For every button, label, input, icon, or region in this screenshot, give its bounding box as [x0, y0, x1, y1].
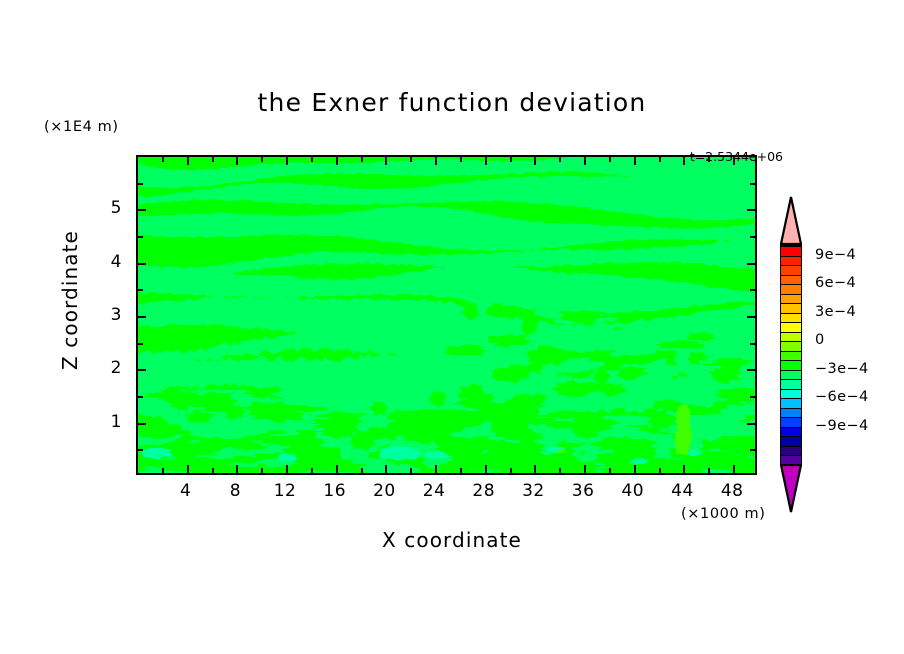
x-axis-tick	[435, 157, 437, 165]
x-axis-tick	[385, 157, 387, 165]
x-axis-tick	[634, 465, 636, 473]
x-axis-minor-tick	[708, 468, 710, 473]
x-axis-tick	[286, 465, 288, 473]
x-axis-tick	[336, 465, 338, 473]
y-axis-minor-tick	[138, 396, 143, 398]
y-axis-tick-label: 3	[111, 305, 122, 325]
y-axis-tick	[747, 423, 755, 425]
y-axis-label: Z coordinate	[58, 220, 82, 380]
y-axis-minor-tick	[750, 343, 755, 345]
y-axis-tick	[747, 316, 755, 318]
x-axis-tick	[683, 465, 685, 473]
y-axis-tick-label: 1	[111, 412, 122, 432]
x-axis-tick-label: 12	[274, 481, 297, 501]
y-axis-minor-tick	[750, 396, 755, 398]
figure-canvas: the Exner function deviation (×1E4 m) (×…	[0, 0, 904, 654]
x-axis-tick-label: 40	[621, 481, 644, 501]
x-axis-minor-tick	[659, 157, 661, 162]
x-axis-tick	[286, 157, 288, 165]
x-axis-minor-tick	[609, 157, 611, 162]
x-axis-minor-tick	[361, 157, 363, 162]
x-axis-tick-label: 44	[671, 481, 694, 501]
x-axis-tick	[485, 465, 487, 473]
x-axis-tick	[336, 157, 338, 165]
x-axis-tick-label: 8	[230, 481, 241, 501]
x-axis-minor-tick	[659, 468, 661, 473]
y-axis-tick	[747, 209, 755, 211]
x-axis-minor-tick	[261, 157, 263, 162]
colorbar-bands	[780, 245, 802, 464]
x-axis-tick	[584, 157, 586, 165]
x-axis-tick-label: 20	[373, 481, 396, 501]
x-axis-minor-tick	[460, 468, 462, 473]
x-axis-minor-tick	[162, 157, 164, 162]
page-title: the Exner function deviation	[0, 88, 904, 117]
x-axis-minor-tick	[510, 157, 512, 162]
colorbar-tick-label: −6e−4	[815, 389, 869, 405]
y-axis-tick	[747, 263, 755, 265]
x-axis-tick	[634, 157, 636, 165]
x-axis-tick	[236, 157, 238, 165]
colorbar-tick-label: −3e−4	[815, 361, 869, 377]
y-axis-tick	[138, 209, 146, 211]
y-axis-tick	[747, 369, 755, 371]
x-axis-unit-label: (×1000 m)	[681, 506, 766, 522]
colorbar-tick-label: 0	[815, 332, 825, 348]
y-axis-tick	[138, 316, 146, 318]
x-axis-minor-tick	[212, 157, 214, 162]
y-axis-minor-tick	[138, 236, 143, 238]
x-axis-tick	[435, 465, 437, 473]
y-axis-tick	[138, 423, 146, 425]
colorbar: 9e−46e−43e−40−3e−4−6e−4−9e−4	[779, 195, 803, 515]
y-axis-minor-tick	[750, 236, 755, 238]
x-axis-minor-tick	[212, 468, 214, 473]
x-axis-minor-tick	[559, 468, 561, 473]
colorbar-tick-label: 9e−4	[815, 247, 856, 263]
x-axis-tick	[584, 465, 586, 473]
x-axis-tick-label: 32	[522, 481, 545, 501]
y-axis-unit-label: (×1E4 m)	[44, 119, 119, 135]
y-axis-minor-tick	[750, 183, 755, 185]
x-axis-minor-tick	[311, 468, 313, 473]
colorbar-tick-label: 6e−4	[815, 275, 856, 291]
x-axis-minor-tick	[559, 157, 561, 162]
x-axis-tick	[733, 465, 735, 473]
time-annotation: t=2.5344e+06	[690, 149, 783, 164]
contour-plot-area	[136, 155, 757, 475]
x-axis-tick	[385, 465, 387, 473]
y-axis-minor-tick	[138, 289, 143, 291]
x-axis-tick	[236, 465, 238, 473]
x-axis-label: X coordinate	[0, 528, 904, 552]
x-axis-tick-label: 48	[721, 481, 744, 501]
x-axis-tick-label: 28	[472, 481, 495, 501]
y-axis-tick-label: 5	[111, 198, 122, 218]
y-axis-minor-tick	[138, 343, 143, 345]
colorbar-tick-label: 3e−4	[815, 304, 856, 320]
x-axis-minor-tick	[311, 157, 313, 162]
y-axis-minor-tick	[750, 449, 755, 451]
x-axis-minor-tick	[510, 468, 512, 473]
contour-field	[138, 157, 755, 473]
y-axis-minor-tick	[138, 183, 143, 185]
x-axis-tick	[485, 157, 487, 165]
colorbar-cap-max	[780, 195, 802, 245]
y-axis-tick	[138, 369, 146, 371]
colorbar-cap-min	[780, 464, 802, 514]
x-axis-tick	[534, 157, 536, 165]
x-axis-tick	[534, 465, 536, 473]
x-axis-minor-tick	[162, 468, 164, 473]
x-axis-minor-tick	[361, 468, 363, 473]
x-axis-tick	[683, 157, 685, 165]
x-axis-tick-label: 16	[323, 481, 346, 501]
x-axis-minor-tick	[410, 157, 412, 162]
x-axis-minor-tick	[410, 468, 412, 473]
x-axis-minor-tick	[609, 468, 611, 473]
x-axis-tick-label: 24	[423, 481, 446, 501]
x-axis-tick-label: 4	[180, 481, 191, 501]
y-axis-tick	[138, 263, 146, 265]
x-axis-tick	[187, 465, 189, 473]
x-axis-minor-tick	[460, 157, 462, 162]
x-axis-tick-label: 36	[572, 481, 595, 501]
colorbar-tick-label: −9e−4	[815, 418, 869, 434]
y-axis-tick-label: 2	[111, 358, 122, 378]
y-axis-minor-tick	[138, 449, 143, 451]
y-axis-minor-tick	[750, 289, 755, 291]
x-axis-minor-tick	[261, 468, 263, 473]
x-axis-tick	[187, 157, 189, 165]
y-axis-tick-label: 4	[111, 252, 122, 272]
